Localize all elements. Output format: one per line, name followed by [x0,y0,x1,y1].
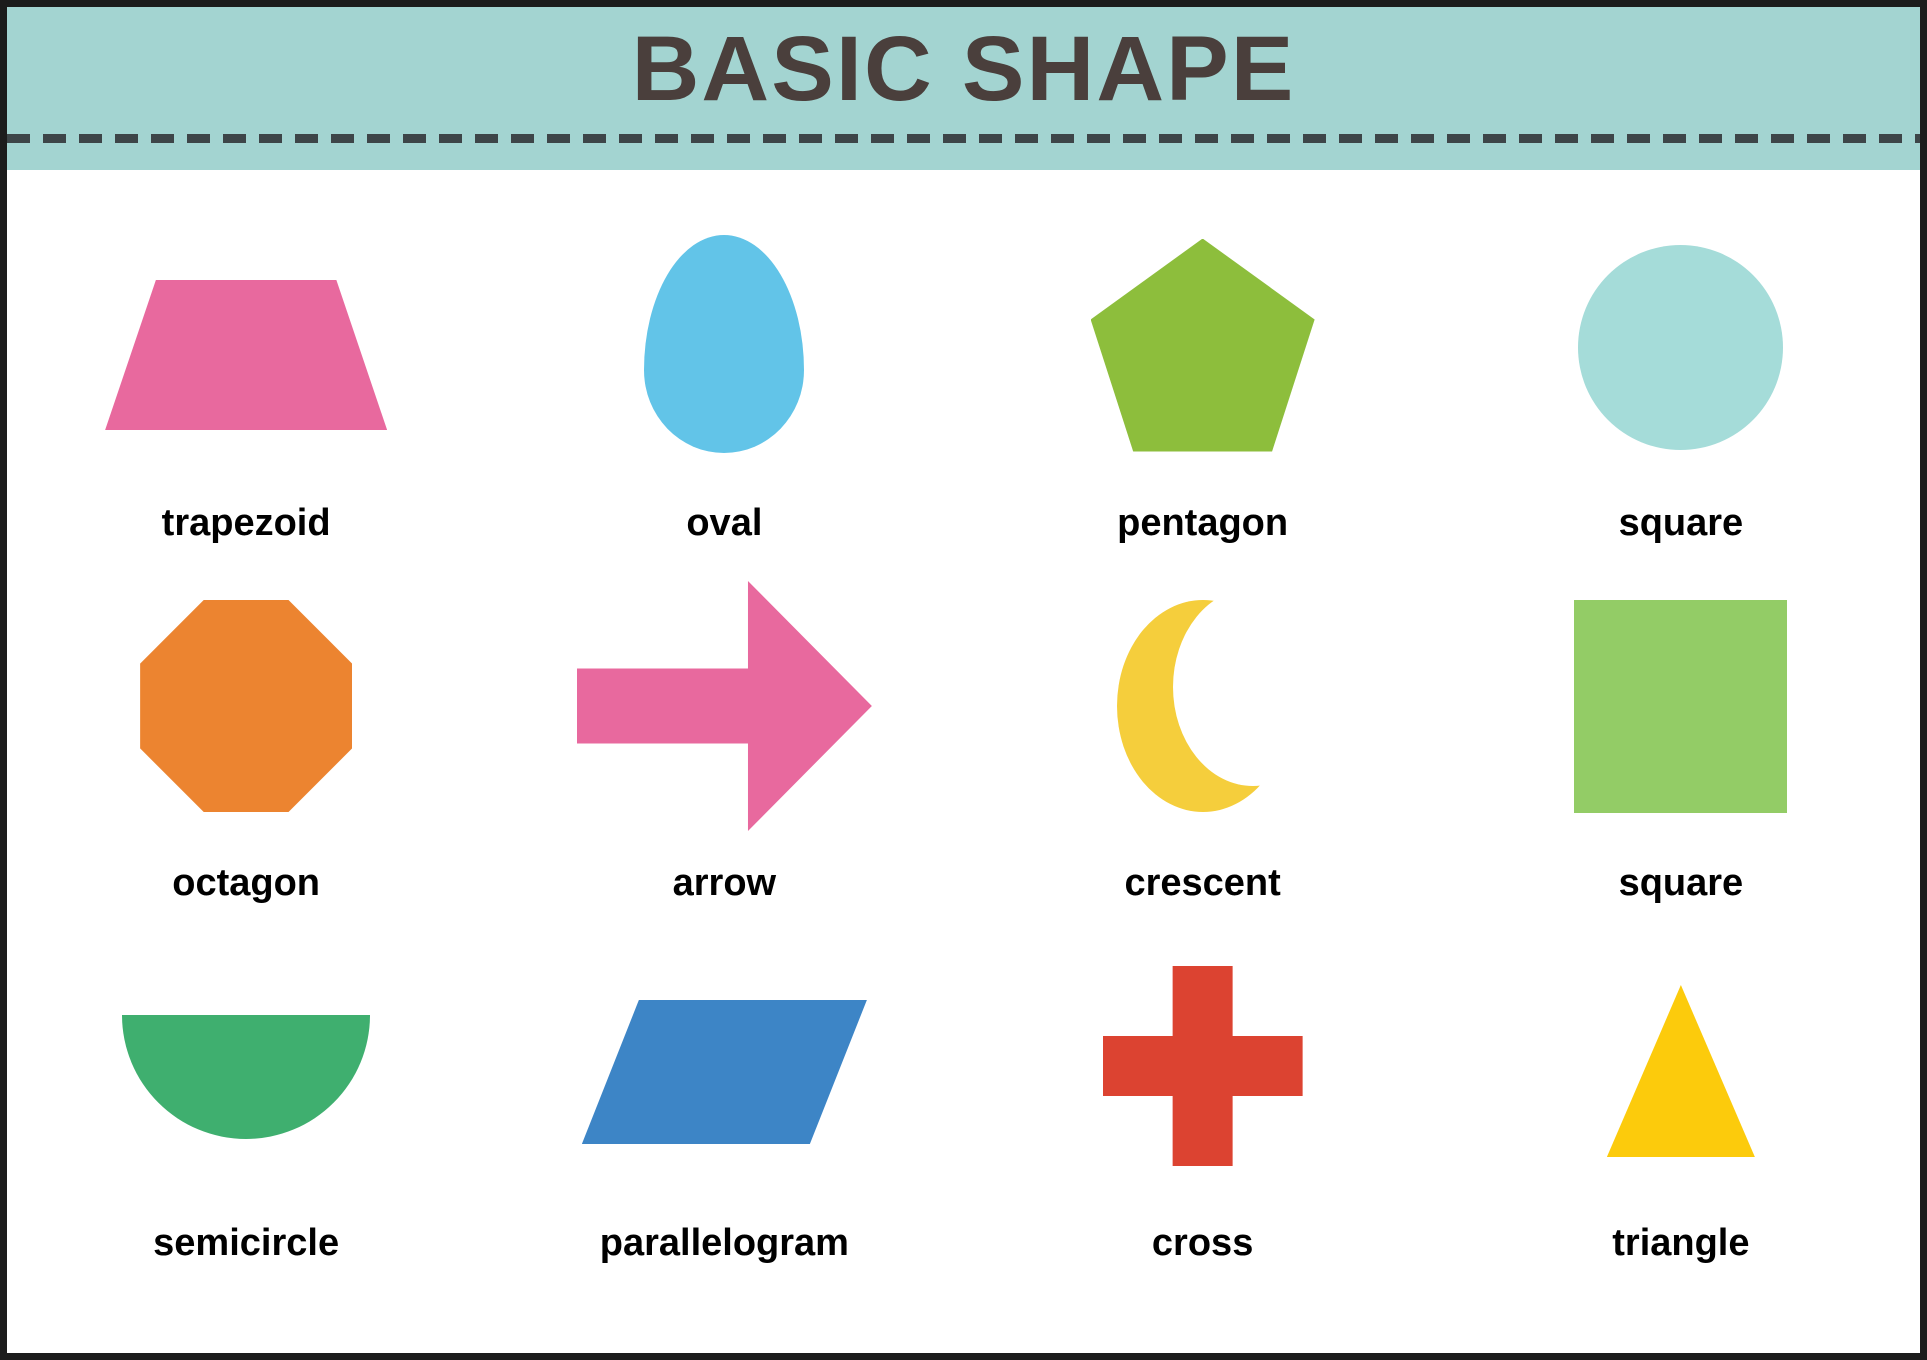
shape-card-trapezoid[interactable]: trapezoid [7,192,485,552]
oval-icon [644,235,804,453]
shape-card-triangle[interactable]: triangle [1442,912,1920,1272]
cross-icon [1103,966,1303,1166]
pentagon-icon [1091,239,1315,452]
shape-label-triangle: triangle [1612,1200,1749,1272]
circle-icon [1578,245,1783,450]
shape-label-cross: cross [1152,1200,1253,1272]
shape-art-pentagon [964,212,1442,480]
basic-shapes-poster: BASIC SHAPE trapezoid oval p [0,0,1927,1360]
arrow-right-icon [577,581,872,831]
square-icon [1574,600,1787,813]
shape-art-square [1442,572,1920,840]
shape-label-crescent: crescent [1124,840,1280,912]
shape-card-octagon[interactable]: octagon [7,552,485,912]
shape-label-circle: square [1619,480,1744,552]
shape-art-triangle [1442,932,1920,1200]
shape-art-crescent [964,572,1442,840]
shapes-row-2: octagon arrow crescent [7,552,1920,912]
shape-art-octagon [7,572,485,840]
shape-card-cross[interactable]: cross [964,912,1442,1272]
shape-label-semicircle: semicircle [153,1200,339,1272]
shape-art-semicircle [7,932,485,1200]
shape-card-pentagon[interactable]: pentagon [964,192,1442,552]
shape-card-oval[interactable]: oval [485,192,963,552]
shape-card-parallelogram[interactable]: parallelogram [485,912,963,1272]
shape-art-arrow [485,572,963,840]
shapes-row-3: semicircle parallelogram cross triangle [7,912,1920,1272]
shape-art-parallelogram [485,932,963,1200]
shape-label-arrow: arrow [673,840,776,912]
crescent-moon-icon [1117,600,1289,812]
octagon-icon [140,600,352,812]
semicircle-icon [122,1015,370,1139]
shapes-row-1: trapezoid oval pentagon square [7,192,1920,552]
triangle-icon [1607,985,1755,1157]
shape-art-oval [485,212,963,480]
shape-label-octagon: octagon [172,840,320,912]
shape-art-trapezoid [7,212,485,480]
trapezoid-icon [105,280,387,430]
shape-label-trapezoid: trapezoid [162,480,331,552]
shape-card-circle[interactable]: square [1442,192,1920,552]
shape-art-cross [964,932,1442,1200]
shapes-grid: trapezoid oval pentagon square [7,170,1920,1360]
dashed-divider [7,134,1920,143]
shape-card-crescent[interactable]: crescent [964,552,1442,912]
poster-header: BASIC SHAPE [7,7,1920,170]
shape-card-arrow[interactable]: arrow [485,552,963,912]
shape-card-semicircle[interactable]: semicircle [7,912,485,1272]
shape-card-square[interactable]: square [1442,552,1920,912]
poster-title: BASIC SHAPE [0,21,1927,118]
shape-label-pentagon: pentagon [1117,480,1288,552]
parallelogram-icon [582,1000,867,1144]
shape-label-oval: oval [686,480,762,552]
shape-label-parallelogram: parallelogram [600,1200,849,1272]
shape-label-square: square [1619,840,1744,912]
shape-art-circle [1442,212,1920,480]
